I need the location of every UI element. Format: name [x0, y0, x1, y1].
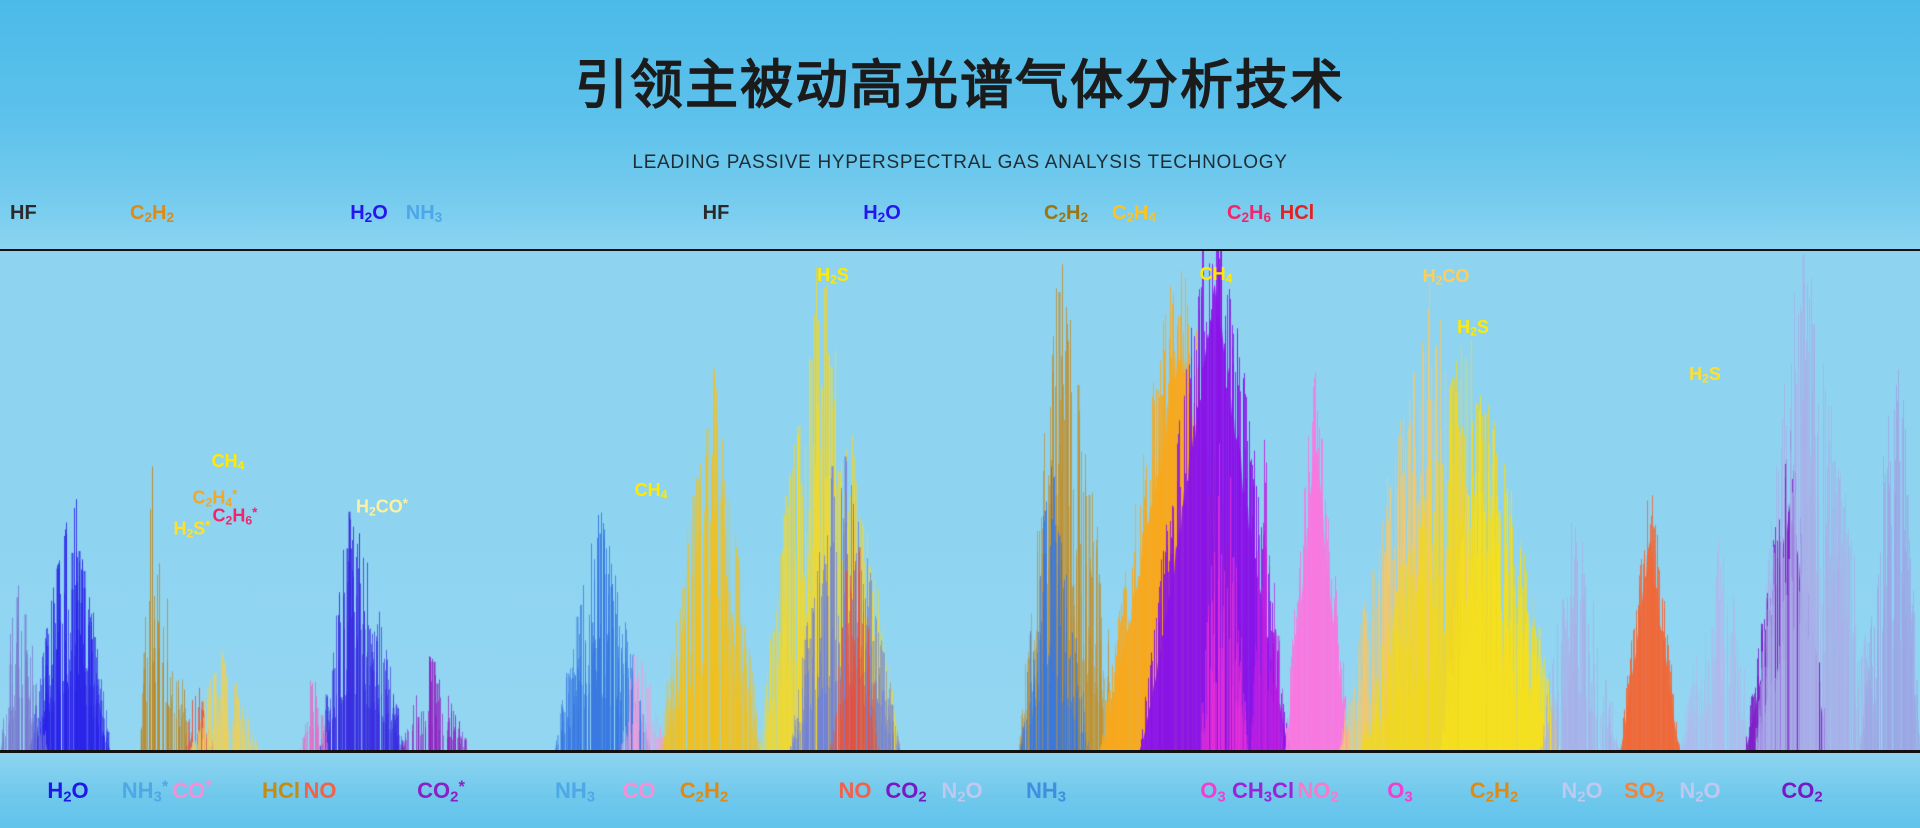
bottom-species-label: CO2	[1781, 778, 1822, 805]
top-species-label: C2H2	[1044, 202, 1088, 225]
bottom-species-label: CO2	[885, 778, 926, 805]
bottom-species-label: CO*	[172, 778, 211, 804]
inplot-species-label: C2H6*	[213, 505, 258, 527]
hyperspectral-poster: 引领主被动高光谱气体分析技术 LEADING PASSIVE HYPERSPEC…	[0, 0, 1920, 828]
top-species-label: NH3	[406, 202, 442, 225]
bottom-species-label: NO	[839, 778, 872, 804]
inplot-species-label: H2CO*	[356, 496, 408, 518]
bottom-species-label: H2O	[47, 778, 88, 805]
bottom-species-label: CH3Cl	[1232, 778, 1294, 805]
inplot-species-label: CH4	[1200, 264, 1233, 286]
header-banner: 引领主被动高光谱气体分析技术 LEADING PASSIVE HYPERSPEC…	[0, 0, 1920, 252]
bottom-species-label: C2H2	[1470, 778, 1518, 805]
top-species-label: HCl	[1280, 202, 1314, 225]
bottom-axis-line	[0, 750, 1920, 753]
bottom-species-label: C2H2	[680, 778, 728, 805]
top-species-label: C2H2	[130, 202, 174, 225]
top-species-label: H2O	[350, 202, 388, 225]
inplot-species-label: CH4	[212, 451, 245, 473]
inplot-species-label: H2S*	[173, 518, 210, 540]
bottom-species-label: N2O	[1561, 778, 1602, 805]
spectrum-plot	[0, 249, 1920, 754]
bottom-species-label: O3	[1387, 778, 1412, 805]
bottom-species-label: N2O	[941, 778, 982, 805]
bottom-species-label: NO	[304, 778, 337, 804]
bottom-species-label: HCl	[262, 778, 300, 804]
page-title: 引领主被动高光谱气体分析技术	[0, 56, 1920, 117]
top-species-label: C2H4	[1112, 202, 1156, 225]
inplot-species-label: H2CO	[1423, 266, 1470, 288]
spectrum-canvas	[0, 251, 1920, 752]
inplot-species-label: H2S	[1689, 364, 1721, 386]
top-species-label: HF	[703, 202, 730, 225]
bottom-species-label: N2O	[1679, 778, 1720, 805]
inplot-species-label: CH4	[635, 480, 668, 502]
top-species-label: HF	[10, 202, 37, 225]
top-species-label: C2H6	[1227, 202, 1271, 225]
inplot-species-label: H2S	[1457, 317, 1489, 339]
bottom-species-label: NH3*	[122, 778, 169, 805]
bottom-species-label: NH3	[1026, 778, 1066, 805]
inplot-species-label: H2S	[817, 265, 849, 287]
bottom-species-label: SO2	[1624, 778, 1664, 805]
bottom-species-label: O3	[1200, 778, 1225, 805]
page-subtitle: LEADING PASSIVE HYPERSPECTRAL GAS ANALYS…	[0, 152, 1920, 174]
bottom-species-label: CO2*	[417, 778, 465, 805]
bottom-species-label: NO2	[1297, 778, 1338, 805]
top-species-label: H2O	[863, 202, 901, 225]
bottom-species-label: NH3	[555, 778, 595, 805]
bottom-species-label: CO	[623, 778, 656, 804]
